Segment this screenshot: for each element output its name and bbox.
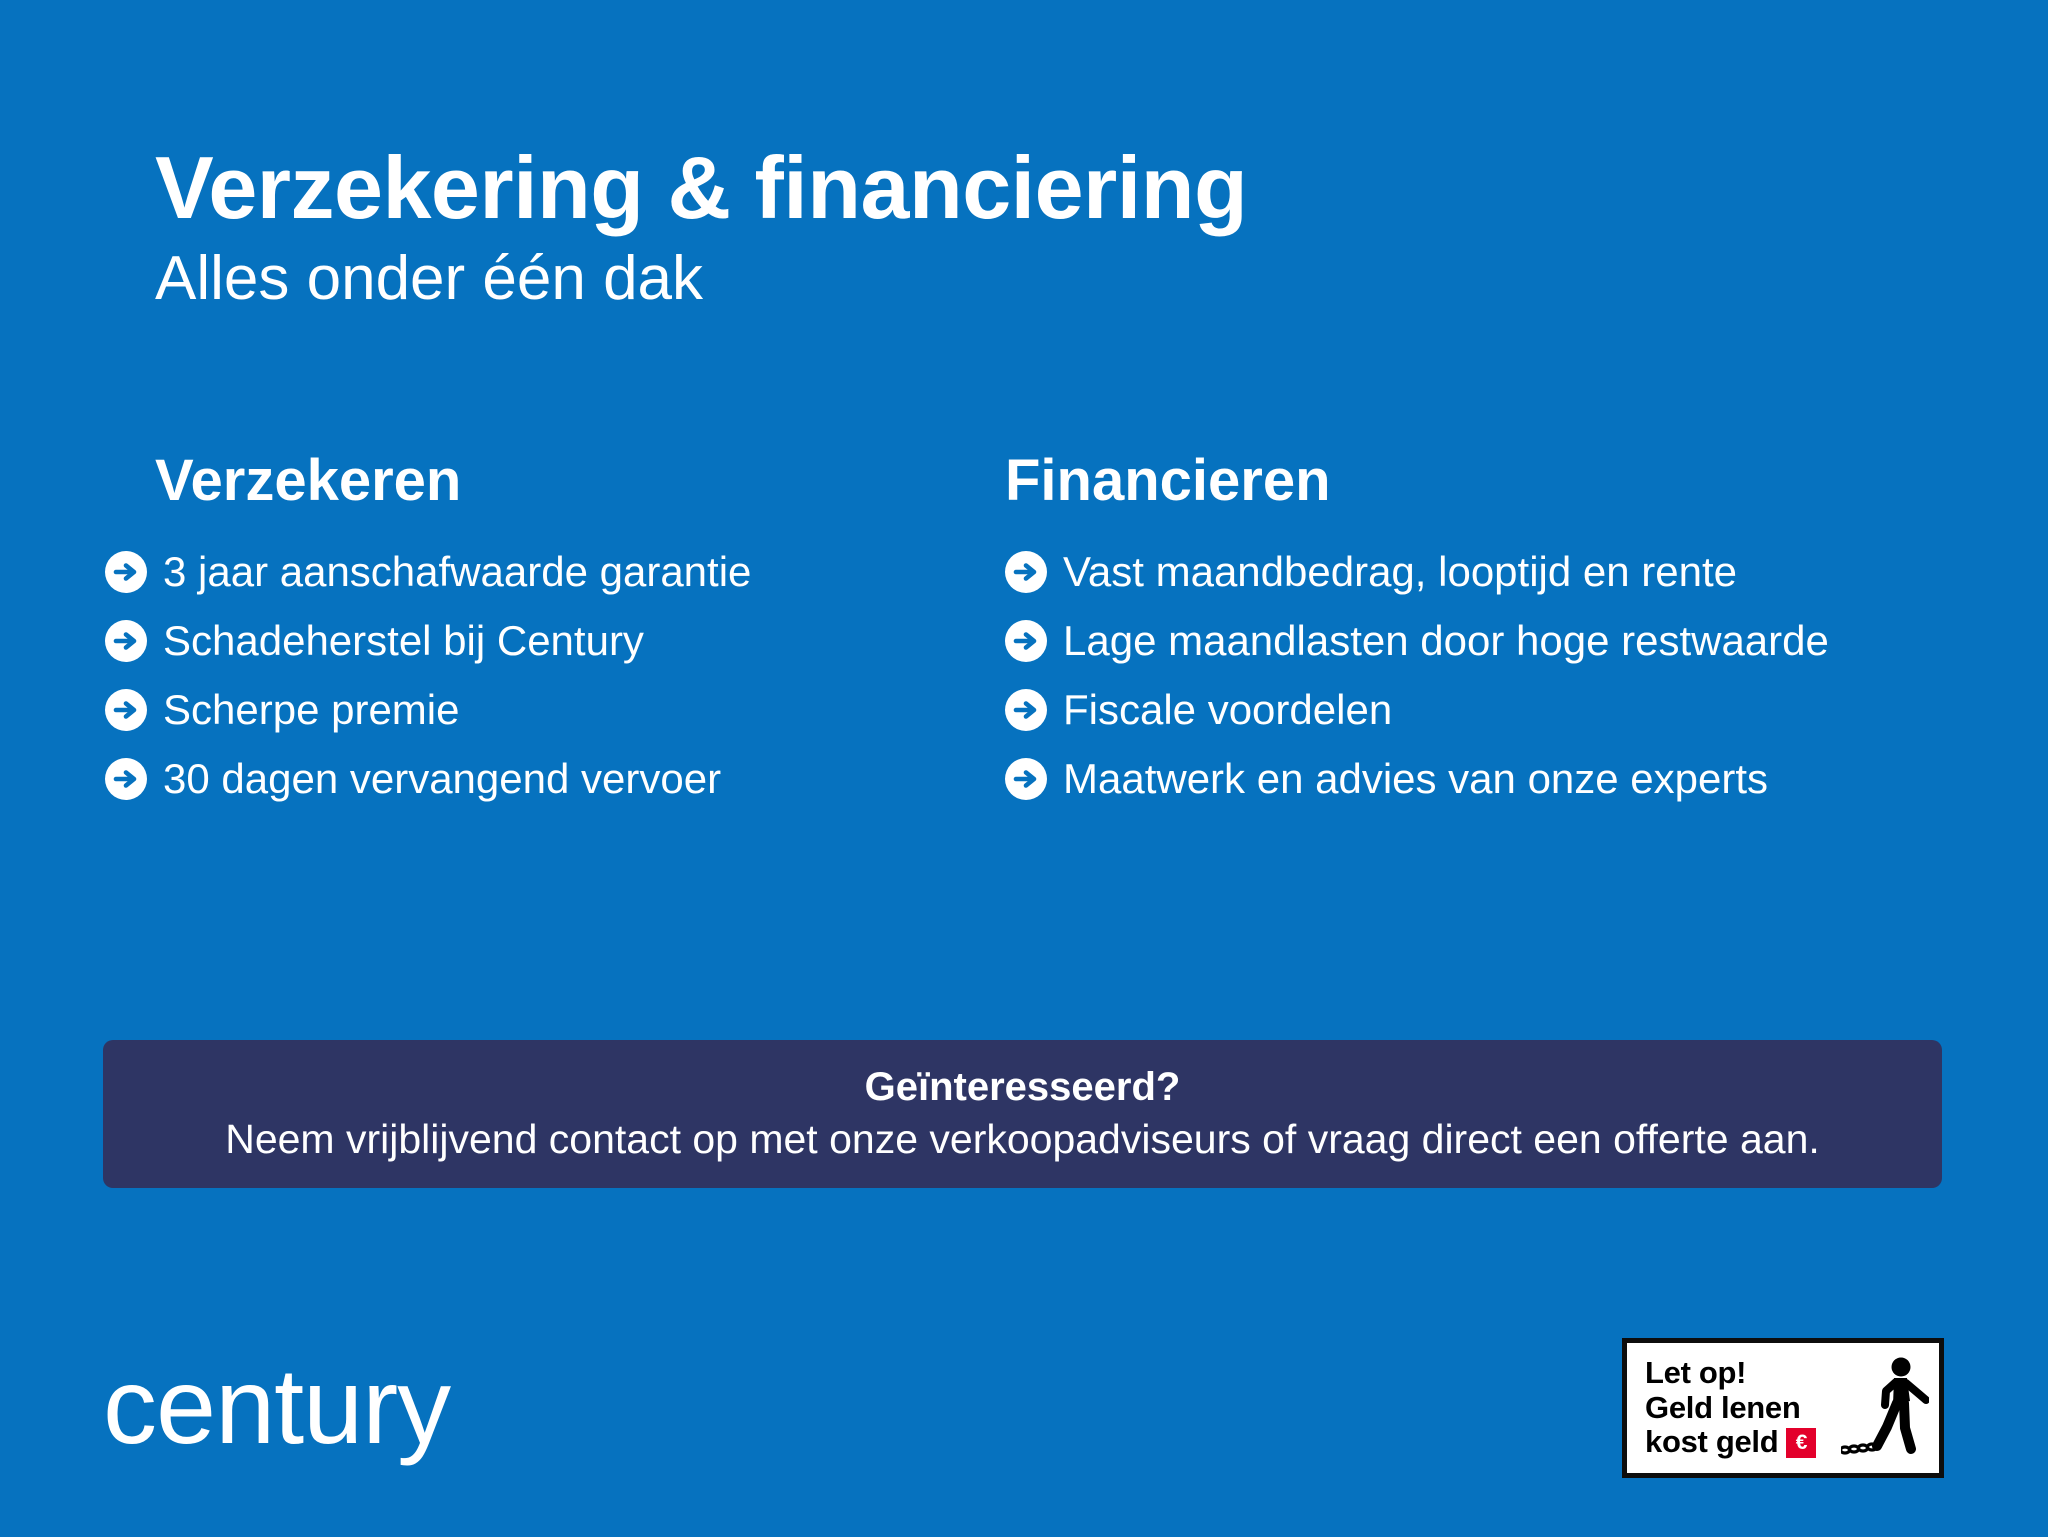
feature-columns: Verzekeren 3 jaar aanschafwaarde garanti… (155, 452, 1945, 802)
arrow-circle-right-icon (1005, 620, 1047, 662)
page-title: Verzekering & financiering (155, 142, 1855, 234)
list-item: 30 dagen vervangend vervoer (105, 755, 1005, 802)
warning-line-3-row: kost geld € (1645, 1425, 1841, 1460)
list-item: Vast maandbedrag, looptijd en rente (1005, 548, 1945, 595)
arrow-circle-right-icon (105, 758, 147, 800)
warning-badge: Let op! Geld lenen kost geld € (1622, 1338, 1944, 1478)
list-item-label: Lage maandlasten door hoge restwaarde (1063, 617, 1829, 664)
header: Verzekering & financiering Alles onder é… (155, 142, 1855, 313)
arrow-circle-right-icon (1005, 758, 1047, 800)
bullet-list-financieren: Vast maandbedrag, looptijd en rente Lage… (1005, 548, 1945, 802)
list-item: Maatwerk en advies van onze experts (1005, 755, 1945, 802)
arrow-circle-right-icon (105, 620, 147, 662)
column-heading-financieren: Financieren (1005, 452, 1945, 510)
list-item: Lage maandlasten door hoge restwaarde (1005, 617, 1945, 664)
column-heading-verzekeren: Verzekeren (155, 452, 1005, 510)
warning-badge-text: Let op! Geld lenen kost geld € (1627, 1348, 1841, 1468)
list-item: 3 jaar aanschafwaarde garantie (105, 548, 1005, 595)
warning-line-1: Let op! (1645, 1356, 1841, 1391)
column-verzekeren: Verzekeren 3 jaar aanschafwaarde garanti… (155, 452, 1005, 802)
list-item-label: 30 dagen vervangend vervoer (163, 755, 721, 802)
warning-line-2: Geld lenen (1645, 1391, 1841, 1426)
warning-line-3: kost geld (1645, 1425, 1778, 1460)
list-item-label: Fiscale voordelen (1063, 686, 1392, 733)
arrow-circle-right-icon (1005, 689, 1047, 731)
list-item-label: 3 jaar aanschafwaarde garantie (163, 548, 751, 595)
list-item-label: Schadeherstel bij Century (163, 617, 644, 664)
page-subtitle: Alles onder één dak (155, 244, 1855, 313)
cta-banner: Geïnteresseerd? Neem vrijblijvend contac… (103, 1040, 1942, 1188)
list-item-label: Vast maandbedrag, looptijd en rente (1063, 548, 1737, 595)
arrow-circle-right-icon (105, 551, 147, 593)
list-item-label: Maatwerk en advies van onze experts (1063, 755, 1768, 802)
slide-root: Verzekering & financiering Alles onder é… (0, 0, 2048, 1537)
century-logo: century (103, 1352, 450, 1460)
list-item-label: Scherpe premie (163, 686, 459, 733)
arrow-circle-right-icon (105, 689, 147, 731)
arrow-circle-right-icon (1005, 551, 1047, 593)
cta-title: Geïnteresseerd? (865, 1065, 1181, 1109)
euro-block-icon: € (1786, 1428, 1816, 1458)
bullet-list-verzekeren: 3 jaar aanschafwaarde garantie Schadeher… (105, 548, 1005, 802)
list-item: Fiscale voordelen (1005, 686, 1945, 733)
list-item: Scherpe premie (105, 686, 1005, 733)
column-financieren: Financieren Vast maandbedrag, looptijd e… (1005, 452, 1945, 802)
walking-person-dragging-debt-icon (1841, 1353, 1929, 1463)
list-item: Schadeherstel bij Century (105, 617, 1005, 664)
cta-text: Neem vrijblijvend contact op met onze ve… (225, 1117, 1820, 1162)
